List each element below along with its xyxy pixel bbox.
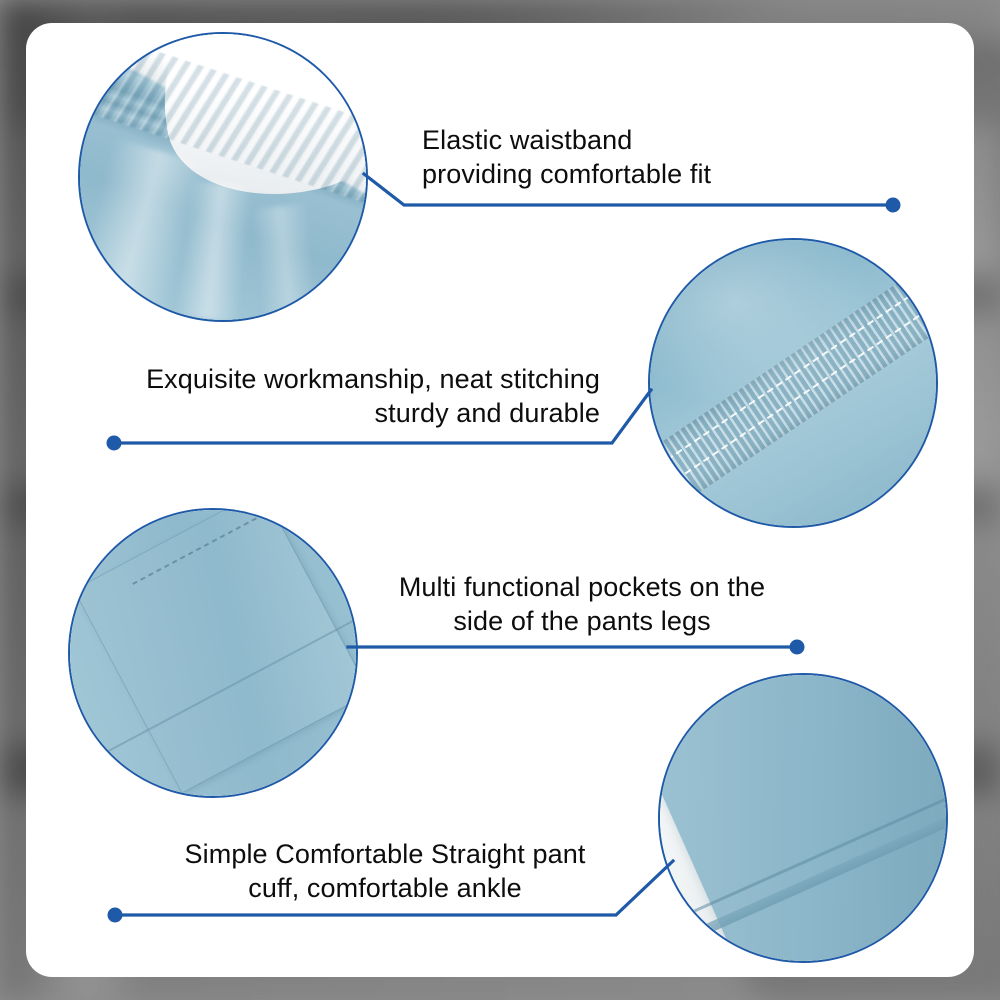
callout-text-neat-stitching: Exquisite workmanship, neat stitching st…: [80, 362, 600, 430]
callout-text-elastic-waistband: Elastic waistband providing comfortable …: [422, 123, 852, 191]
photo-circle-elastic-waistband[interactable]: [78, 32, 368, 322]
fabric-pocket-image: [70, 510, 356, 796]
photo-circle-neat-stitching[interactable]: [648, 238, 938, 528]
photo-circle-pant-cuff[interactable]: [658, 673, 948, 963]
fabric-fold: [251, 203, 320, 322]
fabric-cuff-image: [660, 675, 946, 961]
photo-circle-side-pocket[interactable]: [68, 508, 358, 798]
callout-text-side-pockets: Multi functional pockets on the side of …: [362, 570, 802, 638]
callout-text-pant-cuff: Simple Comfortable Straight pant cuff, c…: [150, 837, 620, 905]
fabric-sheen: [650, 240, 936, 526]
fabric-fold: [176, 180, 253, 322]
fabric-stitching-image: [650, 240, 936, 526]
infographic-canvas: Elastic waistband providing comfortable …: [0, 0, 1000, 1000]
fabric-waistband-image: [80, 34, 366, 320]
